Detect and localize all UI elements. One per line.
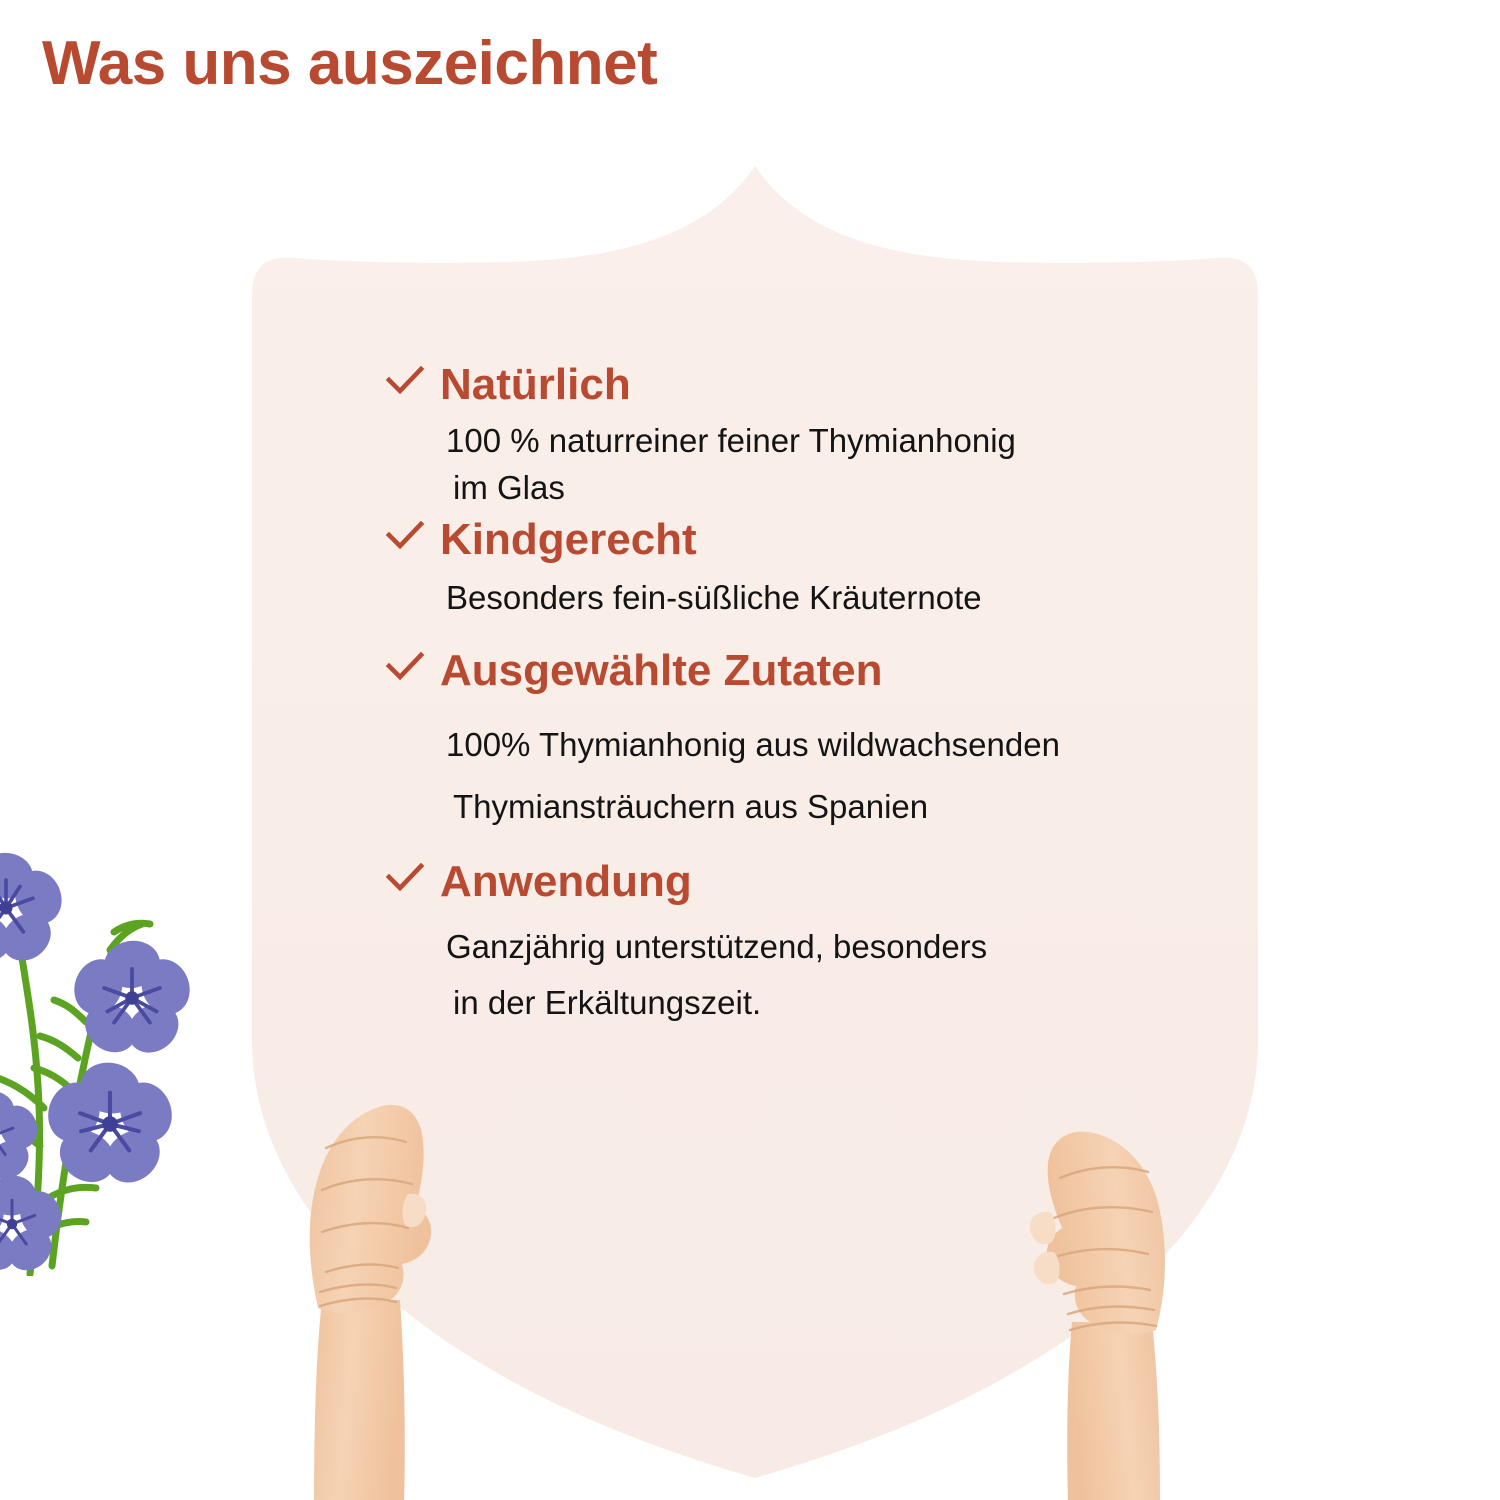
feature-description: 100 % naturreiner feiner Thymianhonig im…: [386, 418, 1206, 512]
feature-list: Natürlich 100 % naturreiner feiner Thymi…: [386, 358, 1206, 1038]
feature-description-line: Thymiansträuchern aus Spanien: [446, 776, 1206, 839]
feature-item-natuerlich: Natürlich 100 % naturreiner feiner Thymi…: [386, 358, 1206, 511]
feature-item-kindgerecht: Kindgerecht Besonders fein-süßliche Kräu…: [386, 513, 1206, 622]
feature-description-line: 100 % naturreiner feiner Thymianhonig: [446, 418, 1206, 465]
feature-heading-row: Ausgewählte Zutaten: [386, 644, 1206, 698]
poster-canvas: Was uns auszeichnet Natürlich 100 % natu…: [0, 0, 1500, 1500]
feature-description-line: Ganzjährig unterstützend, besonders: [446, 919, 1206, 976]
check-icon: [386, 863, 424, 893]
feature-heading: Natürlich: [440, 358, 631, 412]
feature-description: Ganzjährig unterstützend, besonders in d…: [386, 919, 1206, 1033]
check-icon: [386, 652, 424, 682]
feature-description-line: Besonders fein-süßliche Kräuternote: [446, 575, 1206, 622]
flax-flowers-illustration: [0, 846, 226, 1276]
feature-item-ausgewaehlte-zutaten: Ausgewählte Zutaten 100% Thymianhonig au…: [386, 644, 1206, 839]
check-icon: [386, 366, 424, 396]
feature-heading-row: Natürlich: [386, 358, 1206, 412]
feature-description-line: in der Erkältungszeit.: [446, 975, 1206, 1032]
feature-heading: Kindgerecht: [440, 513, 697, 567]
flower: [0, 1174, 67, 1276]
feature-heading: Anwendung: [440, 855, 692, 909]
feature-description-line: im Glas: [446, 465, 1206, 512]
feature-item-anwendung: Anwendung Ganzjährig unterstützend, beso…: [386, 855, 1206, 1032]
right-hand-gripping-shield: [1010, 1086, 1200, 1500]
feature-description: Besonders fein-süßliche Kräuternote: [386, 575, 1206, 622]
feature-heading: Ausgewählte Zutaten: [440, 644, 883, 698]
feature-heading-row: Kindgerecht: [386, 513, 1206, 567]
feature-description-line: 100% Thymianhonig aus wildwachsenden: [446, 714, 1206, 777]
check-icon: [386, 521, 424, 551]
left-hand-gripping-shield: [296, 1086, 486, 1500]
page-title: Was uns auszeichnet: [42, 28, 657, 99]
flower: [0, 851, 69, 971]
feature-heading-row: Anwendung: [386, 855, 1206, 909]
feature-description: 100% Thymianhonig aus wildwachsenden Thy…: [386, 714, 1206, 839]
